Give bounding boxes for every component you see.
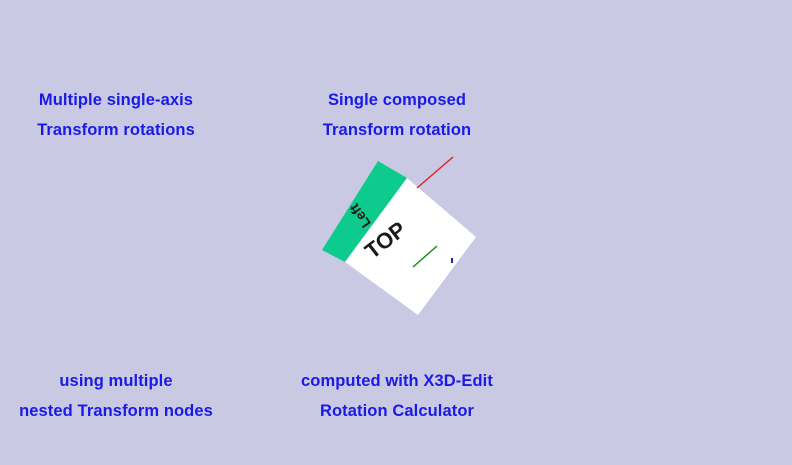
caption-bottom-left: using multiple nested Transform nodes — [0, 366, 232, 426]
caption-top-left-line2: Transform rotations — [0, 115, 232, 145]
caption-top-left-line1: Multiple single-axis — [0, 85, 232, 115]
caption-top-left: Multiple single-axis Transform rotations — [0, 85, 232, 145]
caption-top-right-line1: Single composed — [278, 85, 516, 115]
caption-bottom-right-line1: computed with X3D-Edit — [272, 366, 522, 396]
z-axis-marker-icon — [451, 258, 453, 263]
x-axis-line-icon — [417, 157, 453, 188]
caption-bottom-left-line2: nested Transform nodes — [0, 396, 232, 426]
caption-top-right: Single composed Transform rotation — [278, 85, 516, 145]
caption-bottom-right: computed with X3D-Edit Rotation Calculat… — [272, 366, 522, 426]
cube-svg: Left TOP — [295, 145, 505, 335]
caption-bottom-right-line2: Rotation Calculator — [272, 396, 522, 426]
x3d-scene-viewport: Multiple single-axis Transform rotations… — [0, 0, 792, 465]
caption-top-right-line2: Transform rotation — [278, 115, 516, 145]
caption-bottom-left-line1: using multiple — [0, 366, 232, 396]
rotated-cube-graphic[interactable]: Left TOP — [295, 145, 505, 335]
